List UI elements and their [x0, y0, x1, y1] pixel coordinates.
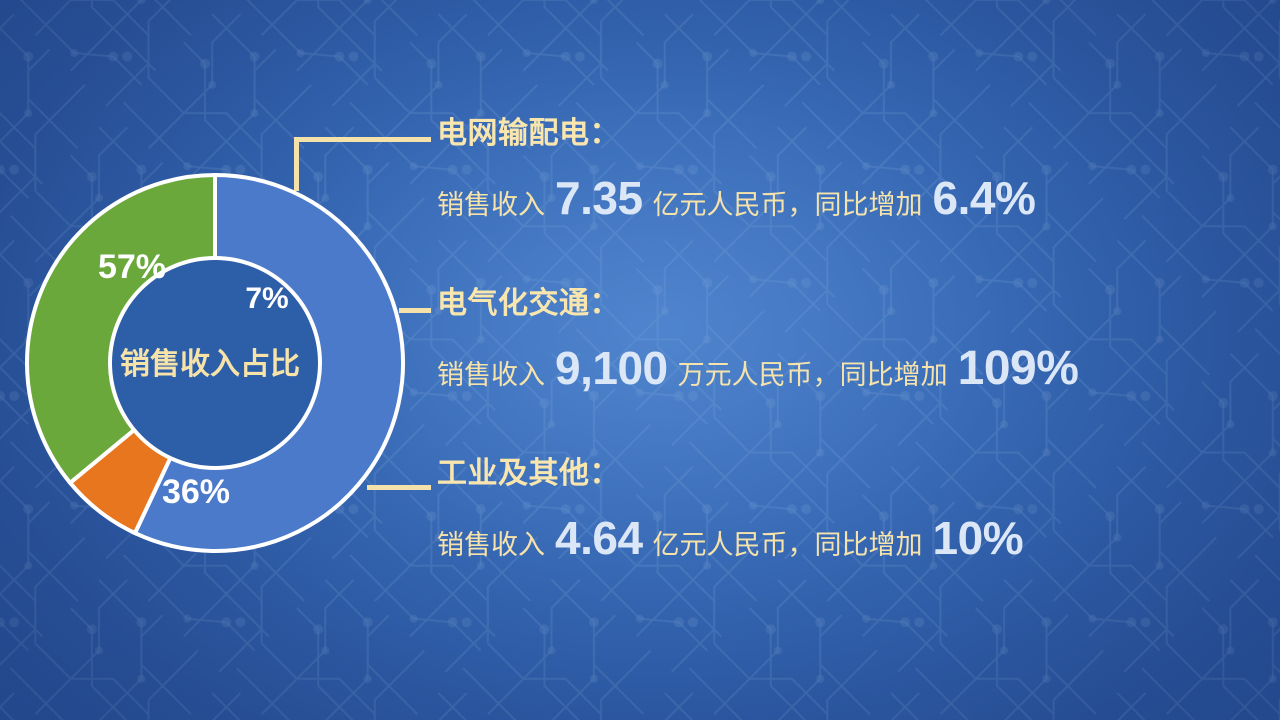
stat-unit-grid: 亿元人民币，同比增加 — [653, 183, 923, 227]
stat-detail-grid: 销售收入 7.35 亿元人民币，同比增加 6.4% — [437, 176, 1280, 227]
stat-lead-transport: 销售收入 — [437, 353, 545, 397]
donut-chart-svg: 57% 7% 36% 销售收入占比 — [20, 168, 410, 558]
slide-canvas: 57% 7% 36% 销售收入占比 电网输配电： 销售收入 7.35 亿元人民币… — [0, 0, 1280, 720]
stat-value-grid: 7.35 — [555, 176, 643, 220]
donut-chart: 57% 7% 36% 销售收入占比 — [20, 168, 410, 558]
stat-title-transport: 电气化交通： — [437, 286, 1280, 322]
stat-unit-industrial: 亿元人民币，同比增加 — [653, 523, 923, 567]
stat-title-industrial: 工业及其他： — [437, 456, 1280, 492]
stat-growth-transport: 109% — [958, 347, 1079, 391]
stat-block-grid: 电网输配电： 销售收入 7.35 亿元人民币，同比增加 6.4% — [437, 116, 1280, 227]
stats-column: 电网输配电： 销售收入 7.35 亿元人民币，同比增加 6.4% 电气化交通： … — [437, 0, 1280, 720]
slice-label-industrial: 36% — [162, 473, 230, 511]
leader-line-grid-vertical — [294, 137, 299, 191]
stat-lead-grid: 销售收入 — [437, 183, 545, 227]
leader-line-grid-horizontal — [294, 137, 431, 142]
leader-line-industrial — [367, 485, 431, 490]
stat-growth-grid: 6.4% — [933, 176, 1036, 220]
slice-label-grid: 57% — [98, 248, 166, 286]
slice-label-transport: 7% — [245, 282, 288, 315]
leader-line-transport — [399, 308, 431, 313]
donut-center-label: 销售收入占比 — [120, 348, 300, 381]
stat-title-grid: 电网输配电： — [437, 116, 1280, 152]
stat-block-industrial: 工业及其他： 销售收入 4.64 亿元人民币，同比增加 10% — [437, 456, 1280, 567]
stat-growth-industrial: 10% — [933, 516, 1024, 560]
stat-detail-transport: 销售收入 9,100 万元人民币，同比增加 109% — [437, 346, 1280, 397]
stat-lead-industrial: 销售收入 — [437, 523, 545, 567]
stat-value-industrial: 4.64 — [555, 516, 643, 560]
stat-unit-transport: 万元人民币，同比增加 — [678, 353, 948, 397]
stat-detail-industrial: 销售收入 4.64 亿元人民币，同比增加 10% — [437, 516, 1280, 567]
stat-block-transport: 电气化交通： 销售收入 9,100 万元人民币，同比增加 109% — [437, 286, 1280, 397]
stat-value-transport: 9,100 — [555, 346, 668, 390]
